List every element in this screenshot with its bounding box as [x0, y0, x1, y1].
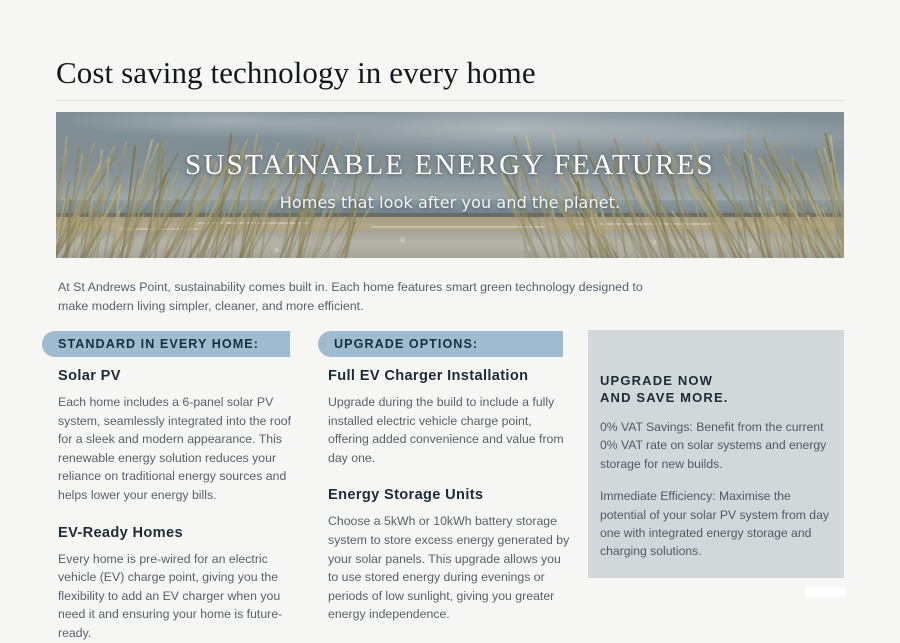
intro-paragraph: At St Andrews Point, sustainability come… [58, 278, 658, 316]
panel-title: UPGRADE NOW AND SAVE MORE. [600, 372, 830, 406]
panel-title-line-1: UPGRADE NOW [600, 373, 713, 388]
feature-heading-full-ev-charger: Full EV Charger Installation [328, 368, 573, 384]
hero-subtitle: Homes that look after you and the planet… [280, 193, 620, 213]
title-divider [56, 100, 844, 101]
feature-heading-ev-ready-homes: EV-Ready Homes [58, 525, 303, 541]
hero-title: SUSTAINABLE ENERGY FEATURES [185, 148, 715, 182]
feature-body-energy-storage: Choose a 5kWh or 10kWh battery storage s… [328, 512, 573, 624]
hero-text-block: SUSTAINABLE ENERGY FEATURES Homes that l… [56, 112, 844, 258]
upgrade-options-column: Full EV Charger Installation Upgrade dur… [328, 368, 573, 624]
panel-paragraph-vat-savings: 0% VAT Savings: Benefit from the current… [600, 418, 830, 473]
upgrade-section-pill: UPGRADE OPTIONS: [318, 331, 563, 357]
standard-features-column: Solar PV Each home includes a 6-panel so… [58, 368, 303, 643]
feature-body-full-ev-charger: Upgrade during the build to include a fu… [328, 393, 573, 467]
page-title: Cost saving technology in every home [56, 54, 536, 92]
panel-content: UPGRADE NOW AND SAVE MORE. 0% VAT Saving… [600, 372, 830, 575]
feature-heading-energy-storage: Energy Storage Units [328, 487, 573, 503]
feature-body-ev-ready-homes: Every home is pre-wired for an electric … [58, 550, 303, 643]
feature-body-solar-pv: Each home includes a 6-panel solar PV sy… [58, 393, 303, 505]
hero-banner: SUSTAINABLE ENERGY FEATURES Homes that l… [56, 112, 844, 258]
panel-title-line-2: AND SAVE MORE. [600, 390, 729, 405]
upgrade-pill-label: UPGRADE OPTIONS: [334, 337, 478, 351]
corner-highlight-pill [804, 586, 846, 598]
standard-pill-label: STANDARD IN EVERY HOME: [58, 337, 259, 351]
feature-heading-solar-pv: Solar PV [58, 368, 303, 384]
panel-paragraph-immediate-efficiency: Immediate Efficiency: Maximise the poten… [600, 487, 830, 561]
upgrade-savings-panel: UPGRADE NOW AND SAVE MORE. 0% VAT Saving… [588, 330, 844, 578]
standard-section-pill: STANDARD IN EVERY HOME: [42, 331, 290, 357]
